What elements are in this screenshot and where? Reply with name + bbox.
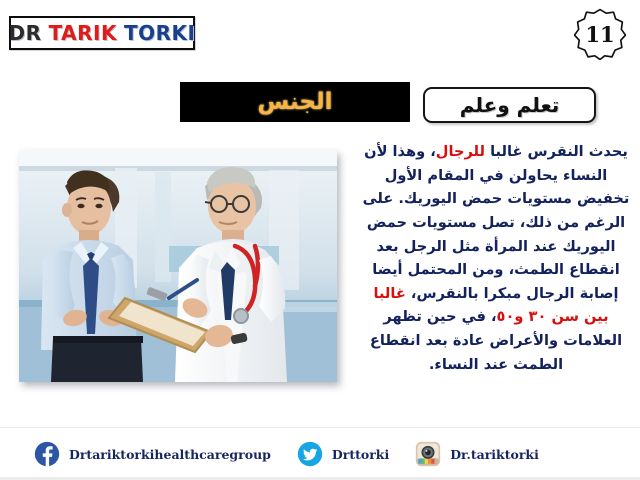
social-facebook[interactable]: Drtariktorkihealthcaregroup — [34, 441, 271, 467]
social-footer: Drtariktorkihealthcaregroup Drttorki — [0, 427, 640, 480]
page-number-text: 11 — [574, 8, 626, 60]
motto-text: تعلم وعلم — [460, 95, 560, 115]
body-paragraph: يحدث النقرس غالبا للرجال، وهذا لأن النسا… — [360, 140, 632, 376]
twitter-icon[interactable] — [297, 441, 323, 467]
section-title-bar: الجنس — [180, 82, 410, 122]
body-segment: ، وهذا لأن النساء يحاولن في المقام الأول… — [363, 143, 630, 302]
photo-illustration — [19, 150, 337, 382]
facebook-icon[interactable] — [34, 441, 60, 467]
facebook-handle[interactable]: Drtariktorkihealthcaregroup — [69, 447, 271, 462]
social-instagram[interactable]: Dr.tariktorki — [415, 441, 539, 467]
instagram-icon[interactable] — [415, 441, 441, 467]
social-twitter[interactable]: Drttorki — [297, 441, 389, 467]
twitter-handle[interactable]: Drttorki — [332, 447, 389, 462]
doctor-patient-photo — [19, 150, 337, 382]
slide-canvas: DR TARIK TORKI 11 الجنس تعلم وعلم — [0, 0, 640, 480]
logo-text-torki: TORKI — [124, 23, 195, 43]
body-segment-highlight: للرجال — [436, 143, 485, 160]
logo-text-tarik: TARIK — [49, 23, 117, 43]
motto-badge: تعلم وعلم — [423, 87, 596, 123]
page-number-badge: 11 — [574, 8, 626, 60]
instagram-handle[interactable]: Dr.tariktorki — [450, 447, 539, 462]
body-segment: يحدث النقرس غالبا — [485, 143, 628, 160]
logo-text-dr: DR — [9, 23, 42, 43]
section-title-text: الجنس — [258, 91, 333, 114]
brand-logo: DR TARIK TORKI — [9, 16, 195, 50]
